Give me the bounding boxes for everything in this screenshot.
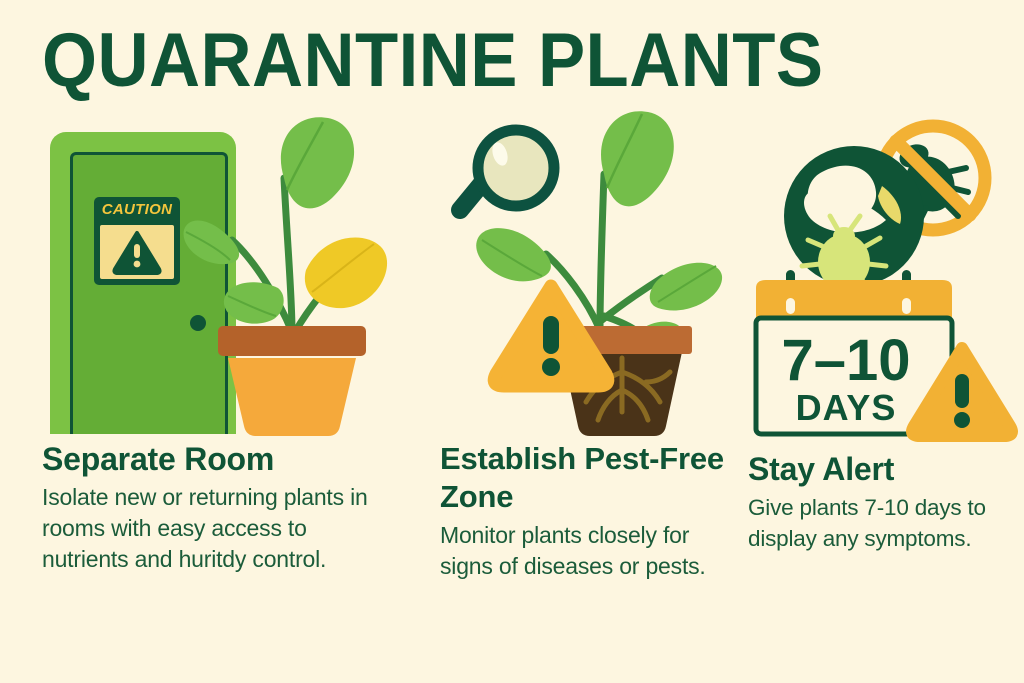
calendar-number: 7–10 [781,328,910,393]
yellow-leaf-shape [305,238,387,309]
column-3-body: Give plants 7-10 days to display any sym… [748,492,1016,554]
column-1-heading: Separate Room [42,440,394,478]
pot-rim [218,326,366,356]
column-1-illustration: CAUTION [42,120,394,440]
column-1-body: Isolate new or returning plants in rooms… [42,482,394,575]
caution-sign-icon: CAUTION [94,197,180,285]
infographic-poster: QUARANTINE PLANTS CAUTION [0,0,1024,683]
column-2-heading: Establish Pest-Free Zone [440,440,740,516]
warning-triangle-icon [112,230,162,274]
caution-sign-label: CAUTION [94,201,180,218]
leaf-shape [476,228,551,281]
column-pest-free-zone: Establish Pest-Free Zone Monitor plants … [440,120,740,582]
warning-triangle-icon [488,280,614,392]
column-3-illustration: 7–10 DAYS [748,120,1016,450]
column-2-body: Monitor plants closely for signs of dise… [440,520,740,582]
column-stay-alert: 7–10 DAYS Stay Alert Give plants 7-10 da… [748,120,1016,554]
calendar-header [756,280,952,318]
column-2-illustration [440,120,740,440]
page-title: QUARANTINE PLANTS [42,20,823,102]
pot-body [228,358,356,436]
warning-triangle-icon [906,342,1018,442]
caution-sign-body [100,225,174,279]
column-separate-room: CAUTION [42,120,394,575]
leaf-shape [224,282,284,323]
potted-plant-icon [192,120,392,438]
leaf-shape [184,221,240,265]
calendar-unit: DAYS [796,387,897,428]
